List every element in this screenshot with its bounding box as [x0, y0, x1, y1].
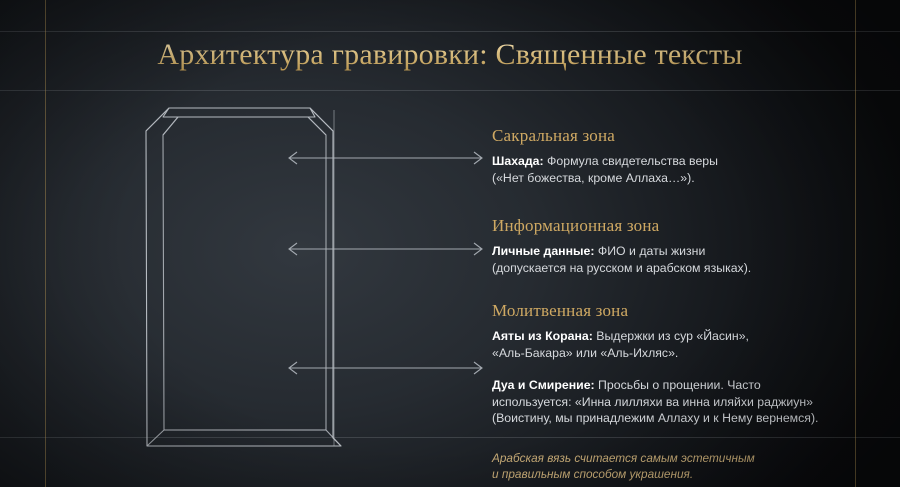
- zone-item-label: Личные данные:: [492, 244, 594, 258]
- zone-block-sacred: Сакральная зона Шахада: Формула свидетел…: [492, 126, 887, 194]
- zone-item-line2: используется: «Инна лилляхи ва инна иляй…: [492, 395, 813, 409]
- arrow-prayer-zone: [289, 362, 482, 374]
- stele-base-ledge: [147, 430, 341, 446]
- zone-heading-sacred: Сакральная зона: [492, 126, 887, 146]
- zone-item-personal-data: Личные данные: ФИО и даты жизни (допуска…: [492, 243, 887, 276]
- zone-item-text: Формула свидетельства веры: [544, 154, 718, 168]
- zone-item-text: Выдержки из сур «Йасин»,: [593, 329, 749, 343]
- zone-item-label: Аяты из Корана:: [492, 329, 593, 343]
- footnote-line-1: Арабская вязь считается самым эстетичным: [492, 451, 755, 465]
- zone-item-line2: «Аль-Бакара» или «Аль-Ихляс».: [492, 346, 678, 360]
- footnote: Арабская вязь считается самым эстетичным…: [492, 450, 892, 482]
- stele-outer-outline: [146, 108, 341, 446]
- zone-block-prayer: Молитвенная зона Аяты из Корана: Выдержк…: [492, 301, 887, 435]
- zone-block-information: Информационная зона Личные данные: ФИО и…: [492, 216, 887, 284]
- stele-top-edge-line: [163, 108, 315, 117]
- slide-canvas: Архитектура гравировки: Священные тексты: [0, 0, 900, 487]
- footnote-line-2: и правильным способом украшения.: [492, 467, 693, 481]
- zone-item-text: ФИО и даты жизни: [594, 244, 705, 258]
- arrow-sacred-zone: [289, 152, 482, 164]
- zone-item-text: Просьбы о прощении. Часто: [595, 378, 761, 392]
- zone-item-quran-verses: Аяты из Корана: Выдержки из сур «Йасин»,…: [492, 328, 887, 361]
- zone-item-dua: Дуа и Смирение: Просьбы о прощении. Част…: [492, 377, 887, 427]
- zone-item-label: Шахада:: [492, 154, 544, 168]
- zone-item-label: Дуа и Смирение:: [492, 378, 595, 392]
- arrow-information-zone: [289, 243, 482, 255]
- stele-left-chamfer: [146, 108, 178, 135]
- stele-inner-outline: [163, 117, 326, 430]
- zone-item-line2: («Нет божества, кроме Аллаха…»).: [492, 171, 695, 185]
- zone-item-shahada: Шахада: Формула свидетельства веры («Нет…: [492, 153, 887, 186]
- zone-heading-information: Информационная зона: [492, 216, 887, 236]
- zone-item-line3: (Воистину, мы принадлежим Аллаху и к Нем…: [492, 411, 818, 425]
- zone-item-line2: (допускается на русском и арабском языка…: [492, 261, 751, 275]
- zone-heading-prayer: Молитвенная зона: [492, 301, 887, 321]
